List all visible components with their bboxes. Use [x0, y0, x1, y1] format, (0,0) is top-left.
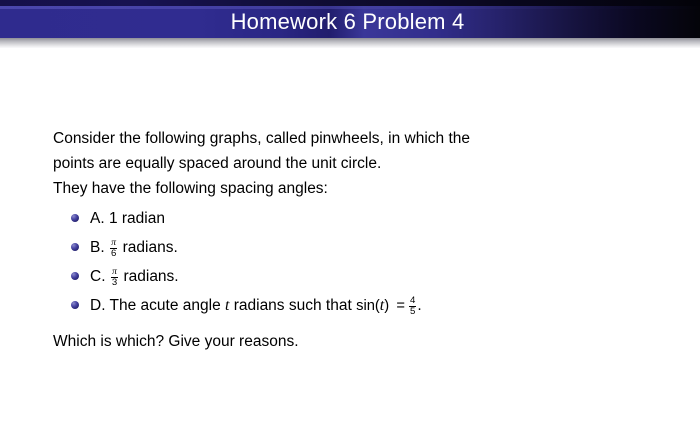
choice-list: A. 1 radian B. π6 radians. C. π3 radians… — [53, 204, 653, 320]
title-banner: Homework 6 Problem 4 — [0, 0, 700, 48]
problem-statement-line-3: They have the following spacing angles: — [53, 176, 653, 201]
choice-b-label: B. — [90, 239, 105, 256]
choice-d-label: D. The acute angle — [90, 297, 221, 314]
choice-d-fraction: 45 — [409, 296, 416, 317]
closing-question: Which is which? Give your reasons. — [53, 329, 653, 354]
choice-b-numerator: π — [110, 238, 117, 248]
banner-drop-shadow — [0, 38, 700, 48]
choice-d-sin-open: sin( — [356, 298, 380, 314]
choice-d-middle-text: radians such that — [234, 297, 352, 314]
choice-d-numerator: 4 — [409, 296, 416, 306]
choice-c-suffix: radians. — [123, 268, 178, 285]
bullet-icon — [71, 272, 79, 280]
list-item: B. π6 radians. — [53, 233, 653, 262]
problem-body: Consider the following graphs, called pi… — [53, 126, 653, 354]
list-item: C. π3 radians. — [53, 262, 653, 291]
choice-a-label: A. 1 radian — [90, 210, 165, 227]
choice-b-suffix: radians. — [123, 239, 178, 256]
choice-d-denominator: 5 — [409, 306, 416, 317]
bullet-icon — [71, 243, 79, 251]
choice-c-label: C. — [90, 268, 106, 285]
choice-d-sin-close: ) — [384, 298, 389, 314]
choice-c-denominator: 3 — [111, 277, 118, 288]
choice-b-denominator: 6 — [110, 248, 117, 259]
choice-d-period: . — [417, 297, 421, 314]
problem-statement-line-2: points are equally spaced around the uni… — [53, 151, 653, 176]
page-title: Homework 6 Problem 4 — [0, 7, 695, 37]
problem-statement-line-1: Consider the following graphs, called pi… — [53, 126, 653, 151]
choice-d-variable: t — [225, 297, 229, 314]
choice-b-fraction: π6 — [110, 238, 117, 259]
bullet-icon — [71, 301, 79, 309]
choice-c-fraction: π3 — [111, 267, 118, 288]
choice-c-numerator: π — [111, 267, 118, 277]
choice-d-equals-sign: = — [393, 298, 408, 314]
bullet-icon — [71, 214, 79, 222]
list-item: D. The acute angle t radians such that s… — [53, 291, 653, 320]
list-item: A. 1 radian — [53, 204, 653, 233]
